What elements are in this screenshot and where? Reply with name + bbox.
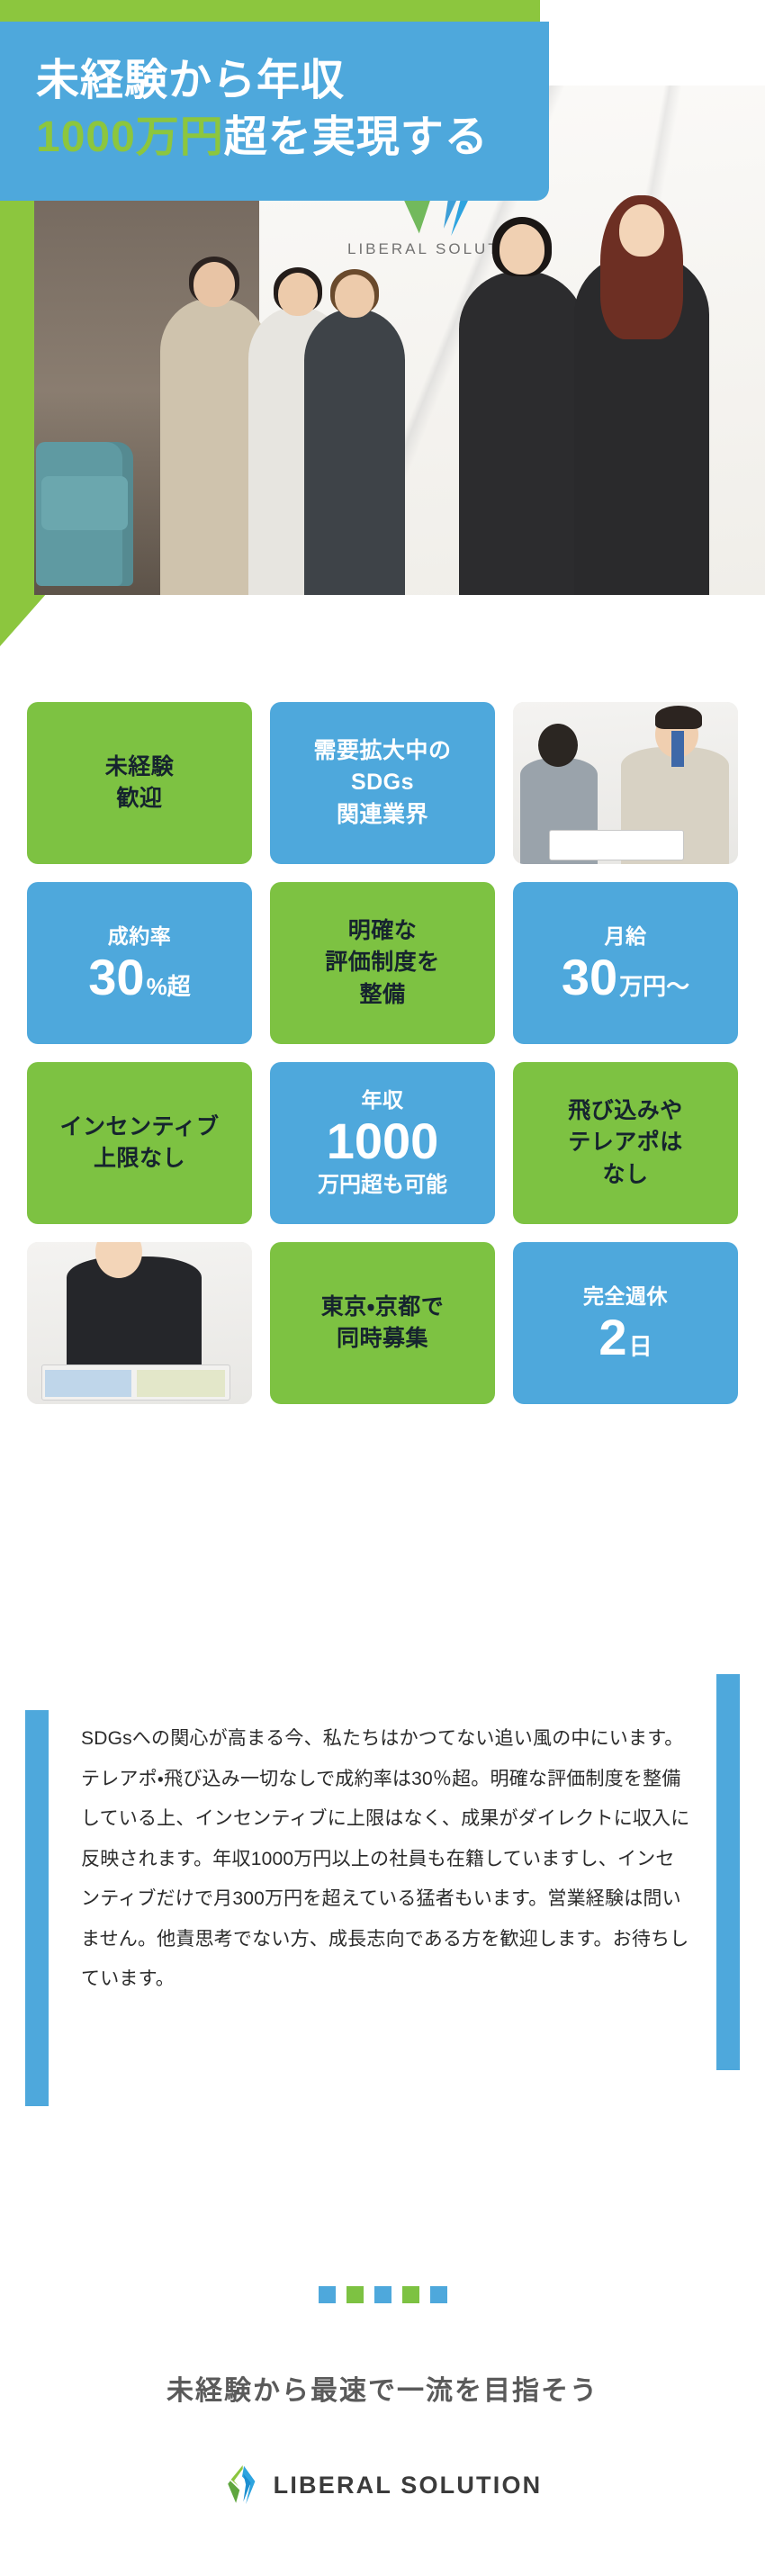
badge-photo-consulting <box>513 702 738 864</box>
badge-line: 飛び込みや <box>568 1095 683 1128</box>
badge-line: テレアポは <box>568 1127 683 1159</box>
badge-value: 1000 <box>327 1115 439 1168</box>
badge-suffix: 万円～ <box>619 975 689 999</box>
badge-number: 1000 <box>327 1115 439 1168</box>
dot-blue <box>319 2286 336 2303</box>
headline-line-1: 未経験から年収 <box>36 52 513 109</box>
body-paragraph: SDGsへの関心が高まる今、私たちはかつてない追い風の中にいます。テレアポ・飛び… <box>81 1719 693 2000</box>
badge-photo-image <box>513 702 738 864</box>
badge-line: 上限なし <box>94 1143 185 1175</box>
body-accent-bar-right <box>716 1674 740 2070</box>
badge-label: 成約率 <box>108 922 172 951</box>
footer-tagline: 未経験から最速で一流を目指そう <box>0 2368 765 2408</box>
badge-line: 整備 <box>359 979 405 1012</box>
badge-value: 2日 <box>598 1311 652 1365</box>
footer-section: 未経験から最速で一流を目指そう LIBERAL SOLUTION <box>0 2232 765 2507</box>
body-accent-bar-left <box>25 1710 49 2106</box>
dot-green <box>402 2286 419 2303</box>
badge-line: 明確な <box>348 915 418 948</box>
badge-label: 月給 <box>605 922 647 951</box>
dot-green <box>346 2286 364 2303</box>
badge-line: なし <box>602 1159 648 1192</box>
badge-number: 2 <box>598 1311 626 1365</box>
badge-line: 東京・京都で <box>321 1292 445 1324</box>
dot-blue <box>430 2286 447 2303</box>
badge-suffix: %超 <box>147 975 191 999</box>
badge-sdgs-industry: 需要拡大中のSDGs関連業界 <box>270 702 495 864</box>
hero-headline-card: 未経験から年収 1000万円超を実現する <box>0 22 549 201</box>
photo-person-3 <box>304 309 405 595</box>
badge-closing-rate: 成約率30%超 <box>27 882 252 1044</box>
badge-line: インセンティブ <box>59 1112 219 1144</box>
badge-line: 未経験 <box>105 752 175 784</box>
footer-logo: LIBERAL SOLUTION <box>0 2463 765 2507</box>
badge-evaluation-system: 明確な評価制度を整備 <box>270 882 495 1044</box>
decorative-dot-row <box>0 2286 765 2303</box>
photo-sofa <box>36 442 133 586</box>
badge-line: SDGs <box>351 767 414 799</box>
badge-line: 関連業界 <box>337 799 428 832</box>
photo-person-5 <box>574 253 709 595</box>
photo-person-4 <box>459 271 585 595</box>
badge-inexperienced-welcome: 未経験歓迎 <box>27 702 252 864</box>
body-paragraph-text: SDGsへの関心が高まる今、私たちはかつてない追い風の中にいます。テレアポ・飛び… <box>81 1719 693 2000</box>
body-message-section: SDGsへの関心が高まる今、私たちはかつてない追い風の中にいます。テレアポ・飛び… <box>0 1710 765 2151</box>
badge-two-days-off: 完全週休2日 <box>513 1242 738 1404</box>
feature-badge-grid: 未経験歓迎需要拡大中のSDGs関連業界成約率30%超明確な評価制度を整備月給30… <box>27 702 738 1404</box>
badge-subtext: 万円超も可能 <box>318 1170 447 1201</box>
footer-logo-text: LIBERAL SOLUTION <box>274 2472 543 2499</box>
badge-value: 30万円～ <box>562 951 689 1004</box>
liberal-solution-chevron-icon <box>223 2463 261 2507</box>
dot-blue <box>374 2286 391 2303</box>
hero-section: LIBERAL SOLUTION 未経験から年収 1000万円超を実現する <box>0 0 765 684</box>
badge-annual-income: 年収1000万円超も可能 <box>270 1062 495 1224</box>
badge-no-cold-calls: 飛び込みやテレアポはなし <box>513 1062 738 1224</box>
badge-incentive-no-cap: インセンティブ上限なし <box>27 1062 252 1224</box>
badge-line: 評価制度を <box>325 947 440 979</box>
badge-line: 同時募集 <box>337 1323 428 1356</box>
headline-highlight: 1000万円 <box>36 113 224 161</box>
headline-line-2: 1000万円超を実現する <box>36 109 513 166</box>
badge-monthly-salary: 月給30万円～ <box>513 882 738 1044</box>
badge-value: 30%超 <box>88 951 190 1004</box>
badge-suffix: 日 <box>629 1335 652 1359</box>
badge-line: 歓迎 <box>116 783 162 815</box>
badge-tokyo-kyoto-hiring: 東京・京都で同時募集 <box>270 1242 495 1404</box>
badge-line: 需要拡大中の <box>313 735 451 768</box>
badge-photo-staff <box>27 1242 252 1404</box>
badge-label: 完全週休 <box>583 1282 668 1311</box>
badge-number: 30 <box>88 951 144 1004</box>
badge-label: 年収 <box>362 1085 404 1115</box>
badge-number: 30 <box>562 951 617 1004</box>
headline-rest: 超を実現する <box>224 113 489 161</box>
badge-photo-image <box>27 1242 252 1404</box>
